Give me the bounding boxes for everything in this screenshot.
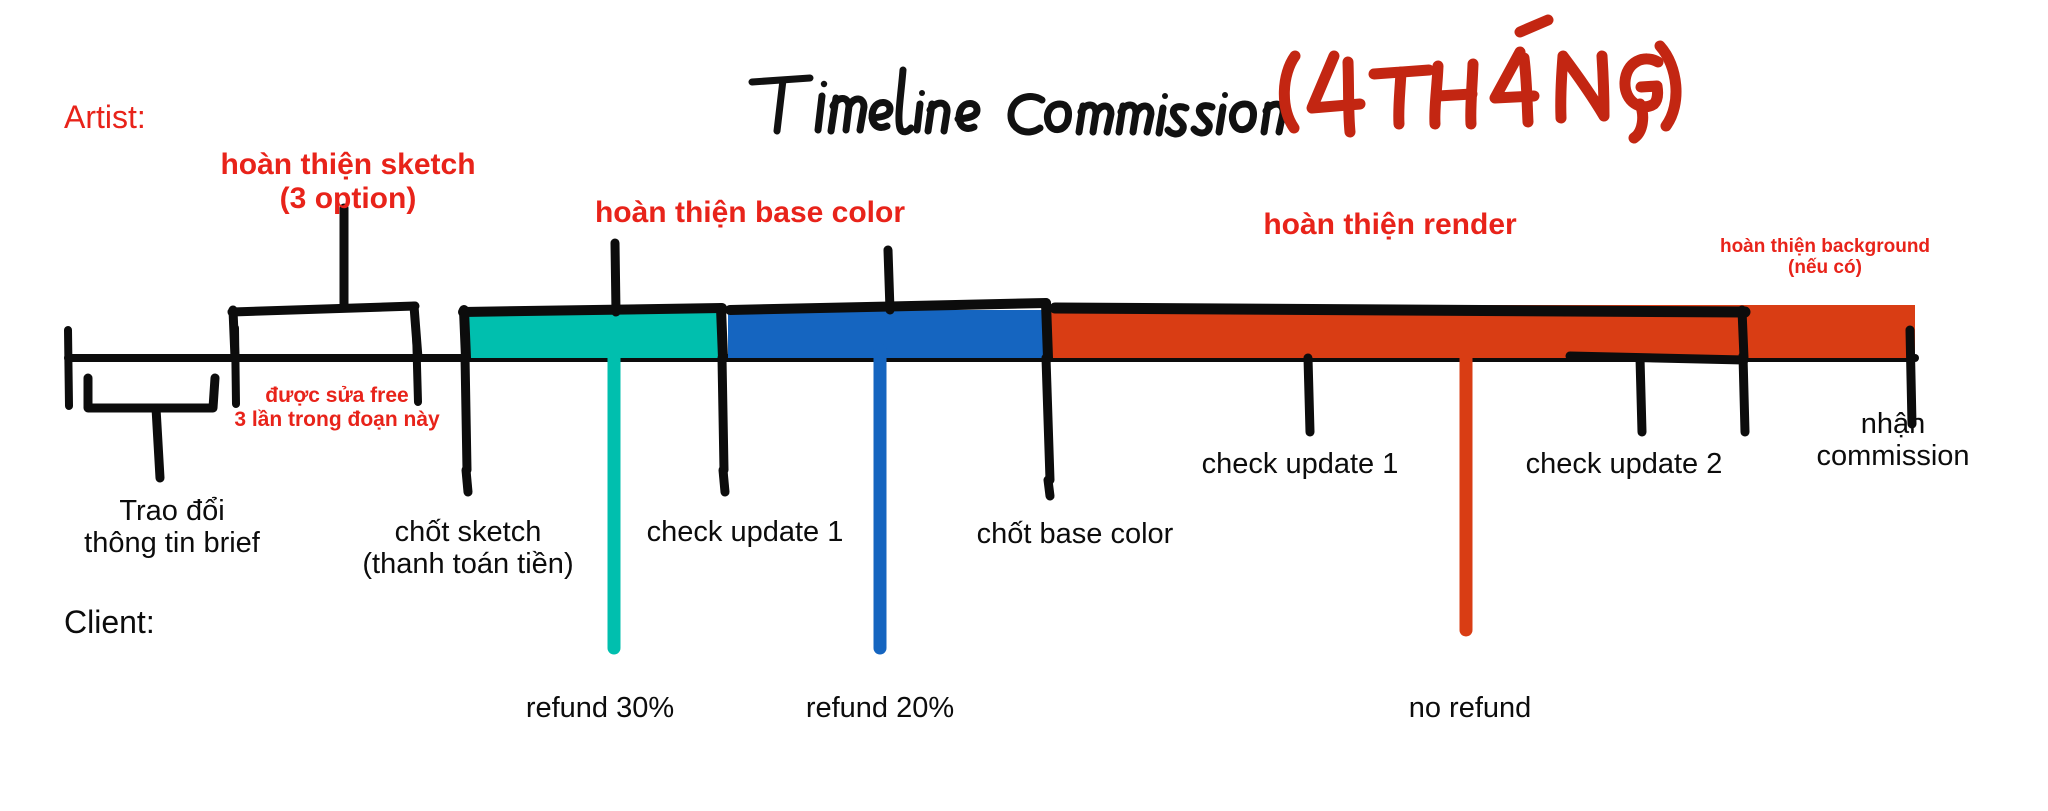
outline-background-top bbox=[1055, 308, 1745, 312]
milestone-base-color-locked: chốt base color bbox=[977, 518, 1174, 550]
tick-base-lock bbox=[1046, 358, 1050, 480]
tick-check1a bbox=[722, 358, 724, 470]
outline-axis-overlay-right bbox=[1570, 356, 1744, 360]
outline-base-color-left bbox=[464, 310, 466, 358]
tick-check1b bbox=[1308, 358, 1310, 432]
bracket-brief-leader bbox=[156, 408, 160, 478]
milestone-brief-line1: Trao đổi bbox=[84, 495, 260, 527]
title-handwritten-red bbox=[1284, 20, 1676, 138]
leader-render bbox=[888, 250, 890, 310]
tick-sketch-lock bbox=[465, 356, 467, 470]
phase-label-background-line2: (nếu có) bbox=[1720, 257, 1930, 278]
refund-label-30: refund 30% bbox=[526, 692, 674, 724]
refund-label-20: refund 20% bbox=[806, 692, 954, 724]
bracket-brief bbox=[88, 378, 215, 408]
milestone-sketch-locked-line1: chốt sketch bbox=[362, 516, 573, 548]
tick-start bbox=[68, 330, 69, 406]
phase-label-render: hoàn thiện render bbox=[1263, 208, 1516, 242]
milestone-receive-commission: nhận commission bbox=[1816, 408, 1969, 473]
tick-check2 bbox=[1640, 358, 1642, 432]
outline-base-color-right bbox=[721, 308, 723, 358]
milestone-check-update-1a: check update 1 bbox=[647, 516, 844, 548]
milestone-brief: Trao đổi thông tin brief bbox=[84, 495, 260, 560]
milestone-receive-line2: commission bbox=[1816, 440, 1969, 472]
phase-label-base-color: hoàn thiện base color bbox=[595, 196, 905, 230]
role-client: Client: bbox=[64, 605, 155, 641]
timeline-diagram: Artist: Client: hoàn thiện sketch (3 opt… bbox=[0, 0, 2048, 811]
milestone-sketch-locked-line2: (thanh toán tiền) bbox=[362, 548, 573, 580]
milestone-sketch-locked: chốt sketch (thanh toán tiền) bbox=[362, 516, 573, 581]
phase-label-sketch-line1: hoàn thiện sketch bbox=[220, 148, 475, 182]
milestone-check-update-2: check update 2 bbox=[1526, 448, 1723, 480]
title-handwritten-black bbox=[752, 70, 1283, 134]
phase-label-background-line1: hoàn thiện background bbox=[1720, 236, 1930, 257]
leader-check1a-stub bbox=[723, 470, 725, 492]
milestone-check-update-1b: check update 1 bbox=[1202, 448, 1399, 480]
outline-sketch-bracket bbox=[232, 306, 415, 312]
outline-base-color-top bbox=[463, 308, 722, 312]
milestone-brief-line2: thông tin brief bbox=[84, 527, 260, 559]
role-artist: Artist: bbox=[64, 100, 146, 136]
bar-base-color bbox=[465, 310, 722, 358]
leader-base-color bbox=[615, 243, 616, 312]
leader-base-lock-stub bbox=[1048, 480, 1050, 496]
annotation-free-edits-line2: 3 lần trong đoạn này bbox=[234, 408, 439, 432]
outline-render-right bbox=[1046, 303, 1048, 358]
annotation-free-edits-line1: được sửa free bbox=[234, 384, 439, 408]
phase-label-background: hoàn thiện background (nếu có) bbox=[1720, 236, 1930, 279]
tick-bg-start bbox=[1743, 356, 1745, 432]
annotation-free-edits: được sửa free 3 lần trong đoạn này bbox=[234, 384, 439, 431]
milestone-receive-line1: nhận bbox=[1816, 408, 1969, 440]
leader-sketch-lock-stub bbox=[466, 470, 468, 492]
phase-label-sketch-line2: (3 option) bbox=[220, 182, 475, 216]
phase-label-sketch: hoàn thiện sketch (3 option) bbox=[220, 148, 475, 215]
refund-label-none: no refund bbox=[1409, 692, 1532, 724]
outline-background-divider bbox=[1742, 310, 1744, 358]
